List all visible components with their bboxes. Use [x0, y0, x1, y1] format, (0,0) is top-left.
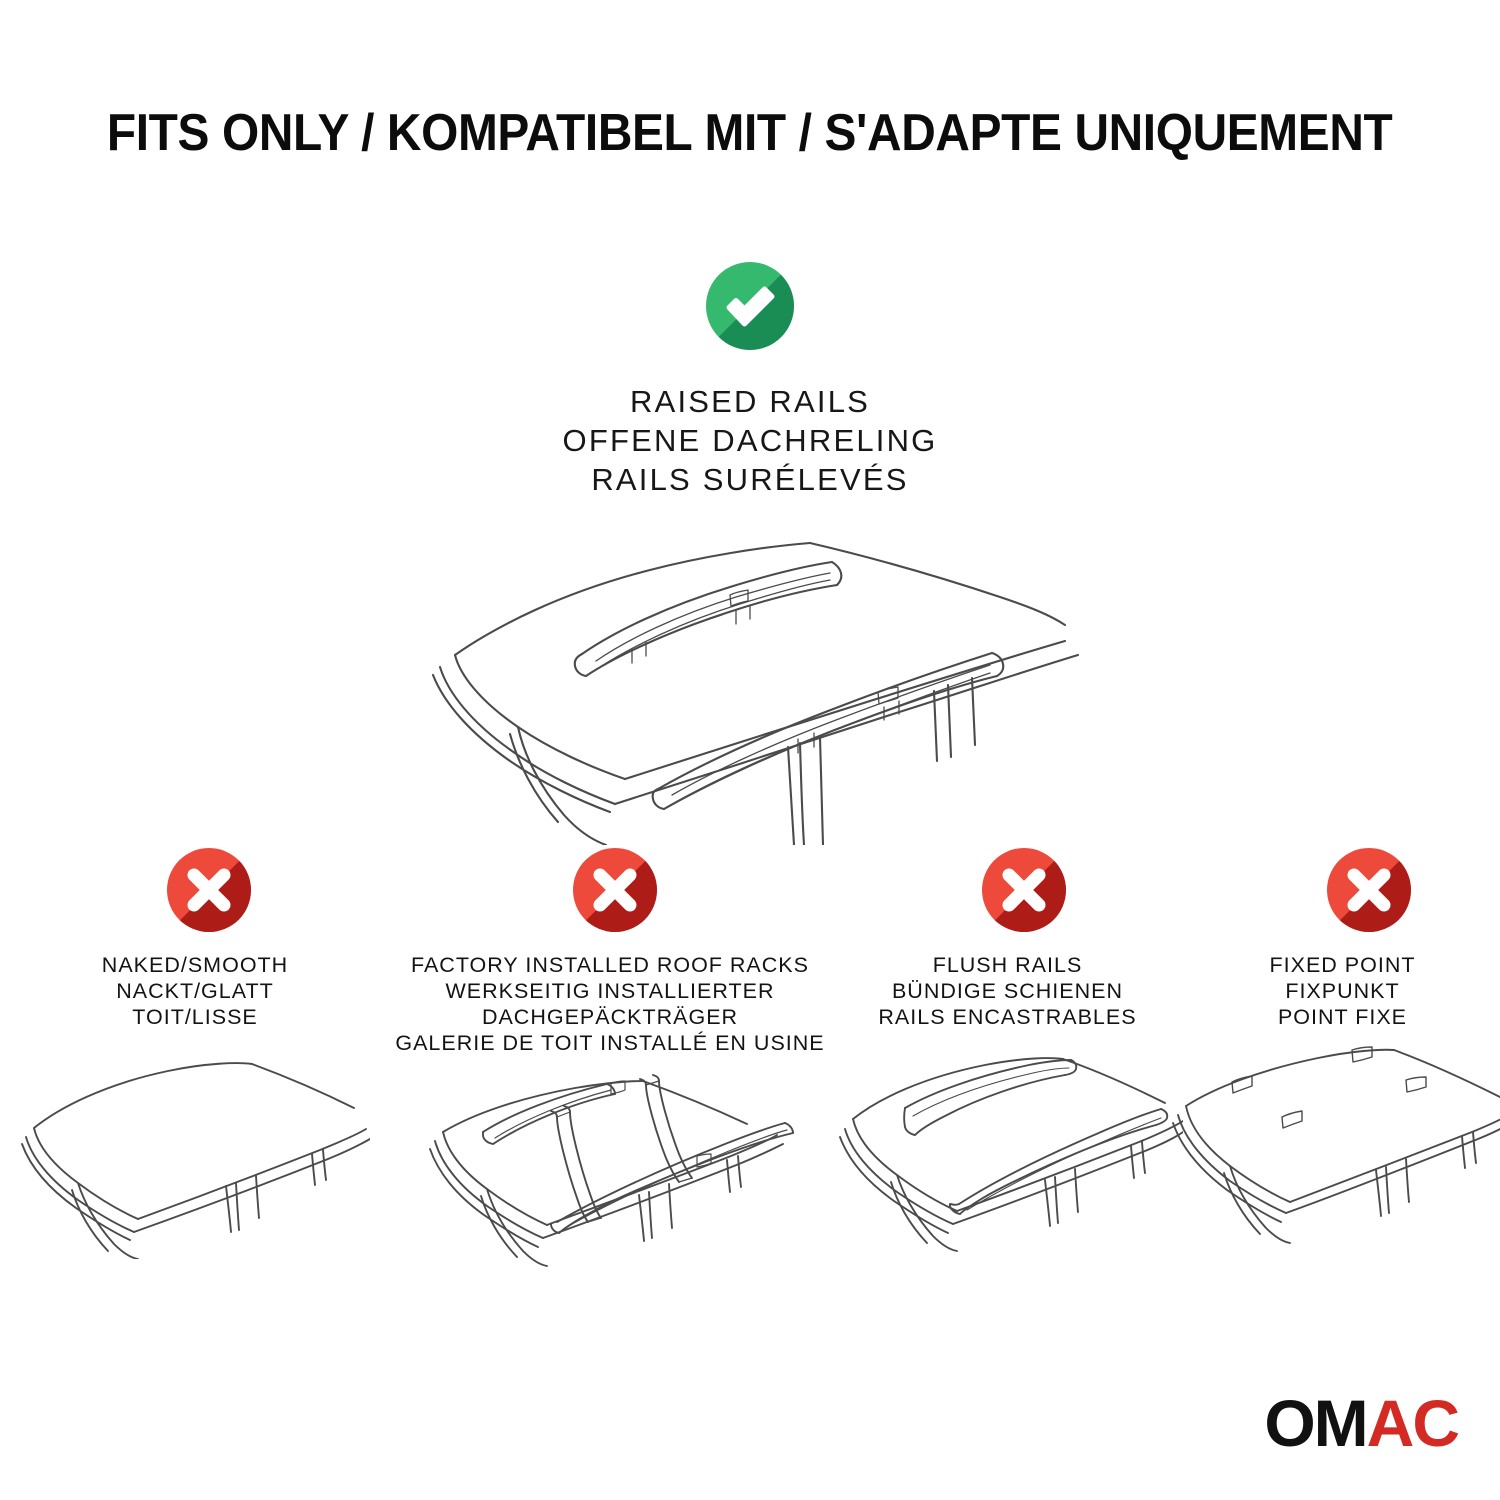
car-roof-naked-illustration	[20, 1044, 370, 1259]
incompatible-item-fixed-point: FIXED POINT FIXPUNKT POINT FIXE	[1185, 848, 1500, 1259]
x-circle-icon	[167, 848, 251, 932]
x-glyph	[167, 848, 251, 932]
x-glyph	[1327, 848, 1411, 932]
x-glyph	[573, 848, 657, 932]
car-roof-flush-rails-illustration	[833, 1044, 1183, 1259]
check-circle-icon	[706, 262, 794, 350]
page-title: FITS ONLY / KOMPATIBEL MIT / S'ADAPTE UN…	[0, 104, 1500, 162]
x-glyph	[982, 848, 1066, 932]
incompatible-item-factory-roof-racks: FACTORY INSTALLED ROOF RACKS WERKSEITIG …	[390, 848, 830, 1285]
car-roof-raised-rails-illustration	[400, 515, 1100, 845]
incompatible-caption-naked-smooth: NAKED/SMOOTH NACKT/GLATT TOIT/LISSE	[102, 952, 288, 1030]
car-roof-factory-racks-illustration	[425, 1070, 795, 1285]
incompatible-caption-fixed-point: FIXED POINT FIXPUNKT POINT FIXE	[1270, 952, 1416, 1030]
x-circle-icon	[982, 848, 1066, 932]
x-circle-icon	[1327, 848, 1411, 932]
incompatible-item-flush-rails: FLUSH RAILS BÜNDIGE SCHIENEN RAILS ENCAS…	[830, 848, 1185, 1259]
logo-text-ac: AC	[1367, 1390, 1458, 1456]
car-roof-fixed-point-illustration	[1170, 1044, 1500, 1259]
compatible-section: RAISED RAILS OFFENE DACHRELING RAILS SUR…	[0, 262, 1500, 845]
incompatible-section: NAKED/SMOOTH NACKT/GLATT TOIT/LISSE	[0, 848, 1500, 1285]
incompatible-caption-factory-roof-racks: FACTORY INSTALLED ROOF RACKS WERKSEITIG …	[395, 952, 824, 1056]
page-title-text: FITS ONLY / KOMPATIBEL MIT / S'ADAPTE UN…	[107, 104, 1392, 162]
omac-logo: OMAC	[1264, 1390, 1458, 1456]
check-glyph	[706, 262, 794, 350]
incompatible-caption-flush-rails: FLUSH RAILS BÜNDIGE SCHIENEN RAILS ENCAS…	[878, 952, 1136, 1030]
compatible-caption: RAISED RAILS OFFENE DACHRELING RAILS SUR…	[563, 382, 938, 499]
incompatible-item-naked-smooth: NAKED/SMOOTH NACKT/GLATT TOIT/LISSE	[0, 848, 390, 1259]
logo-text-om: OM	[1264, 1390, 1366, 1456]
x-circle-icon	[573, 848, 657, 932]
